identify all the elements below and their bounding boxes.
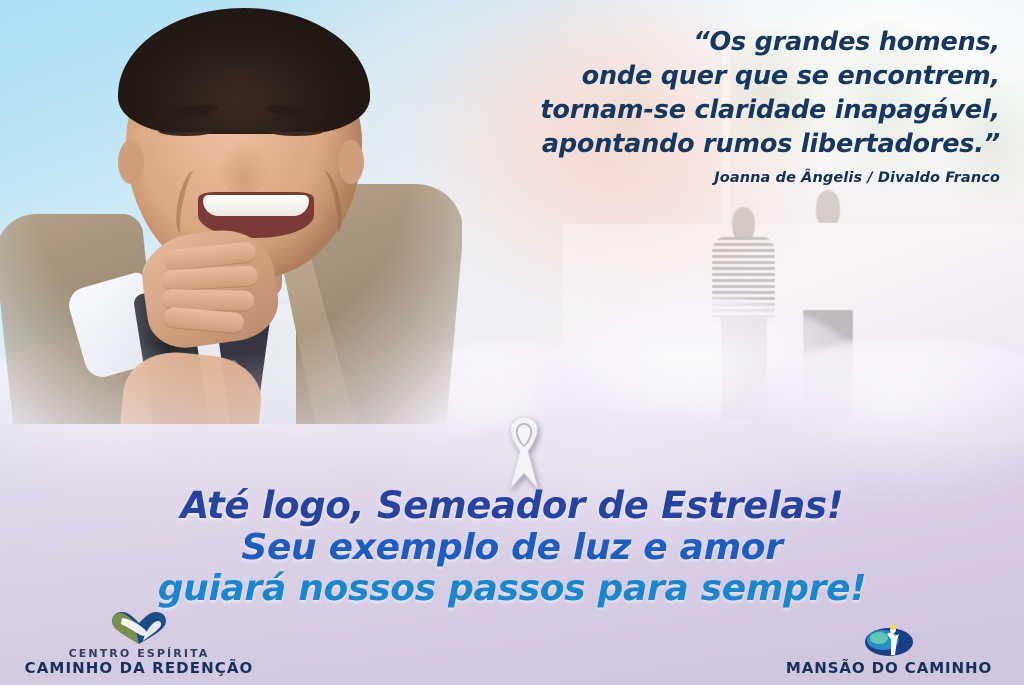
teeth	[203, 195, 310, 216]
logo-left-line-1: CENTRO ESPÍRITA	[14, 648, 264, 660]
headline-line-2: Seu exemplo de luz e amor	[0, 530, 1024, 567]
quote-line-4: apontando rumos libertadores.”	[430, 128, 1000, 162]
eye-left-closed	[158, 126, 214, 136]
logo-mansao-do-caminho: MANSÃO DO CAMINHO	[764, 623, 1014, 677]
white-ribbon-icon	[489, 411, 559, 493]
quote-line-1: “Os grandes homens,	[430, 26, 1000, 60]
logo-right-line-2: MANSÃO DO CAMINHO	[764, 660, 1014, 677]
heart-hands-icon	[110, 611, 168, 645]
eye-right-closed	[268, 126, 324, 136]
logo-left-line-2: CAMINHO DA REDENÇÃO	[14, 660, 264, 677]
plaza-railing	[852, 233, 958, 301]
portrait-divaldo-franco	[0, 0, 462, 424]
globe-figure-flame-icon	[861, 623, 917, 657]
quote-attribution: Joanna de Ângelis / Divaldo Franco	[430, 170, 1000, 186]
quote-line-3: tornam-se claridade inapagável,	[430, 94, 1000, 128]
headline-line-1: Até logo, Semeador de Estrelas!	[0, 487, 1024, 525]
logo-centro-espirita: CENTRO ESPÍRITA CAMINHO DA REDENÇÃO	[14, 611, 264, 677]
ear-left	[118, 140, 144, 184]
person-white-shirt	[794, 223, 862, 315]
headline-line-3: guiará nossos passos para sempre!	[0, 571, 1024, 608]
quote-line-2: onde quer que se encontrem,	[430, 60, 1000, 94]
memorial-poster: “Os grandes homens, onde quer que se enc…	[0, 0, 1024, 685]
headline-block: Até logo, Semeador de Estrelas! Seu exem…	[0, 487, 1024, 608]
quote-block: “Os grandes homens, onde quer que se enc…	[430, 26, 1000, 162]
ear-right	[338, 140, 364, 184]
person-striped-shirt	[712, 237, 776, 322]
nose	[218, 140, 270, 194]
person-head	[816, 190, 841, 227]
